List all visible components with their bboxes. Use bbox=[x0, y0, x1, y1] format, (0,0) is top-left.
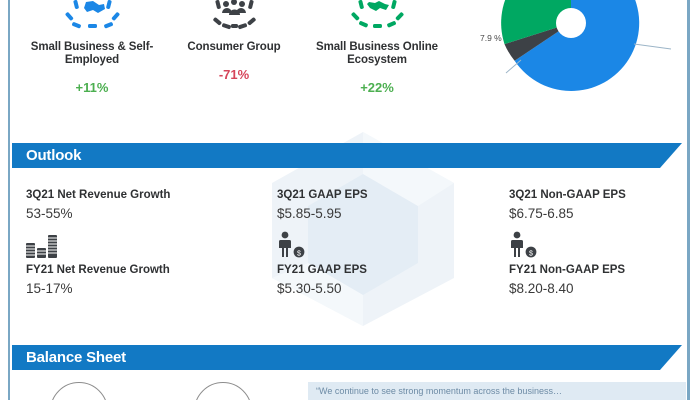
handshake-dashed-blue-icon bbox=[12, 0, 172, 34]
metric-value: $6.75-6.85 bbox=[509, 204, 700, 223]
section-banner-outlook: Outlook bbox=[12, 143, 660, 168]
metric-title: FY21 GAAP EPS bbox=[277, 263, 487, 278]
kpi-row: Small Business & Self-Employed +11% bbox=[12, 0, 472, 115]
revenue-donut-chart: 57.7 % 7.9 % bbox=[466, 0, 696, 98]
person-with-dollar-coin-icon: $ bbox=[509, 229, 700, 261]
pie-label-7-9: 7.9 % bbox=[480, 33, 502, 43]
section-title: Outlook bbox=[12, 147, 81, 164]
metric-title: 3Q21 Net Revenue Growth bbox=[26, 188, 236, 203]
svg-text:$: $ bbox=[297, 250, 301, 257]
metric-value: 15-17% bbox=[26, 279, 236, 298]
metric-value: $8.20-8.40 bbox=[509, 279, 700, 298]
kpi-delta: +11% bbox=[12, 80, 172, 95]
kpi-delta: -71% bbox=[164, 67, 304, 82]
kpi-label: Small Business Online Ecosystem bbox=[292, 41, 462, 67]
outlook-column-net-revenue: 3Q21 Net Revenue Growth 53-55% bbox=[26, 188, 236, 298]
metric-value: $5.30-5.50 bbox=[277, 279, 487, 298]
outlook-column-gaap-eps: 3Q21 GAAP EPS $5.85-5.95 $ FY21 GAAP EPS… bbox=[277, 188, 487, 298]
metric-title: 3Q21 Non-GAAP EPS bbox=[509, 188, 700, 203]
kpi-label: Consumer Group bbox=[164, 41, 304, 54]
metric-title: FY21 Net Revenue Growth bbox=[26, 263, 236, 278]
coin-stacks-icon bbox=[26, 229, 236, 261]
kpi-label: Small Business & Self-Employed bbox=[12, 41, 172, 67]
outlook-content: 3Q21 Net Revenue Growth 53-55% bbox=[12, 188, 680, 310]
banner-tail-shape bbox=[660, 143, 682, 168]
section-banner-balance-sheet: Balance Sheet bbox=[12, 345, 660, 370]
balance-sheet-metric-circle bbox=[50, 382, 108, 400]
kpi-card-small-business-online-ecosystem: Small Business Online Ecosystem +22% bbox=[292, 0, 462, 95]
section-title: Balance Sheet bbox=[12, 349, 126, 366]
kpi-delta: +22% bbox=[292, 80, 462, 95]
metric-value: 53-55% bbox=[26, 204, 236, 223]
person-with-dollar-coin-icon: $ bbox=[277, 229, 487, 261]
metric-value: $5.85-5.95 bbox=[277, 204, 487, 223]
kpi-card-consumer-group: Consumer Group -71% bbox=[164, 0, 304, 82]
metric-title: 3Q21 GAAP EPS bbox=[277, 188, 487, 203]
people-group-dashed-dark-icon bbox=[164, 0, 304, 34]
infographic-page: Small Business & Self-Employed +11% bbox=[0, 0, 700, 400]
left-rule bbox=[8, 0, 10, 400]
metric-title: FY21 Non-GAAP EPS bbox=[509, 263, 700, 278]
outlook-column-non-gaap-eps: 3Q21 Non-GAAP EPS $6.75-6.85 $ FY21 Non-… bbox=[509, 188, 700, 298]
svg-text:$: $ bbox=[529, 250, 533, 257]
quote-callout: “We continue to see strong momentum acro… bbox=[308, 382, 686, 400]
balance-sheet-metric-circle bbox=[194, 382, 252, 400]
banner-tail-shape bbox=[660, 345, 682, 370]
kpi-card-small-business-self-employed: Small Business & Self-Employed +11% bbox=[12, 0, 172, 95]
handshake-dashed-green-icon bbox=[292, 0, 462, 34]
balance-sheet-content: “We continue to see strong momentum acro… bbox=[12, 378, 680, 400]
quote-text: “We continue to see strong momentum acro… bbox=[308, 382, 686, 397]
